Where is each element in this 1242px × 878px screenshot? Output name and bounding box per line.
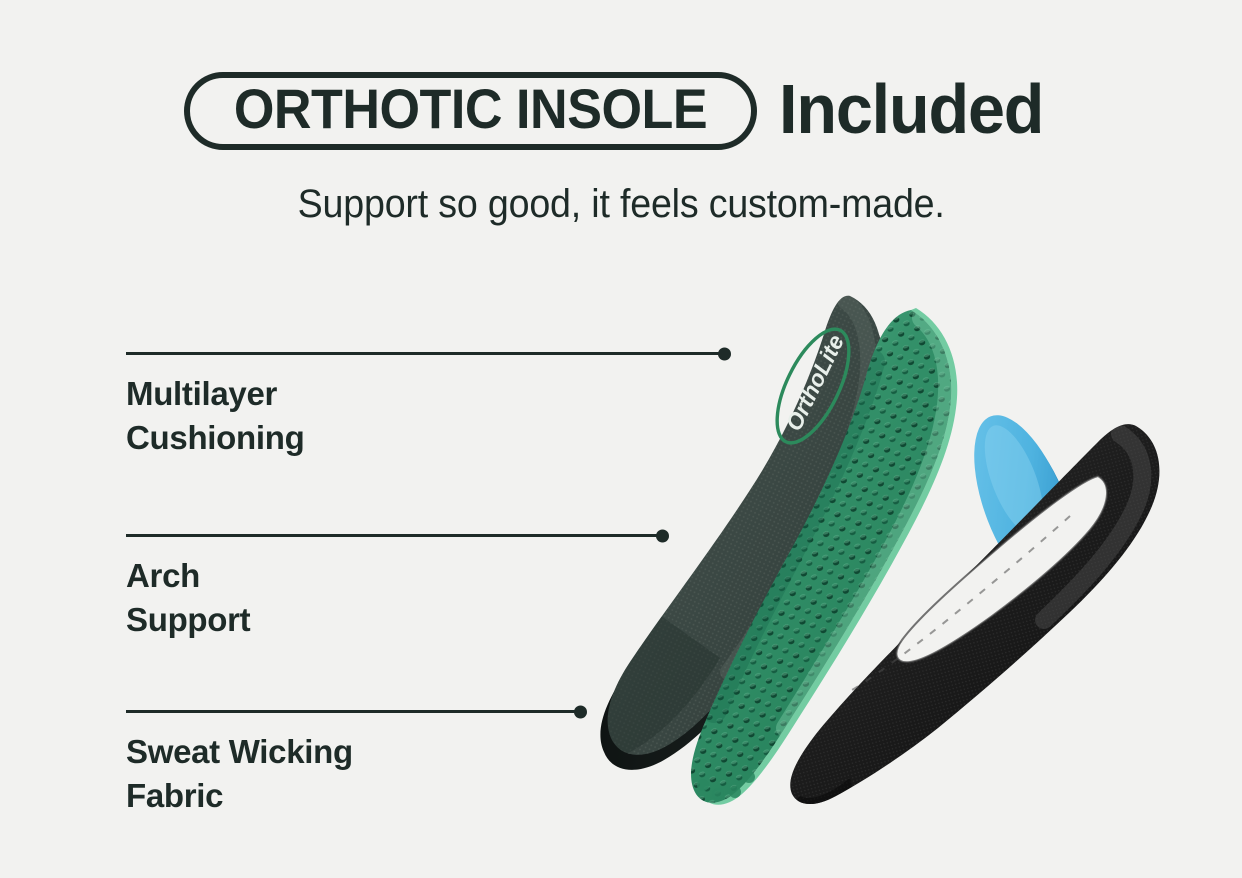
leader-line	[126, 534, 664, 537]
orthotic-insole-badge: ORTHOTIC INSOLE	[184, 72, 757, 150]
feature-label: Arch Support	[126, 554, 664, 642]
feature-sweat-wicking-fabric: Sweat Wicking Fabric	[126, 710, 582, 818]
badge-label: ORTHOTIC INSOLE	[234, 81, 707, 137]
leader-dot-icon	[574, 705, 587, 718]
product-image: OrthoLite	[600, 258, 1200, 838]
orthotic-insole-feature-panel: ORTHOTIC INSOLE Included Support so good…	[0, 0, 1242, 878]
headline: ORTHOTIC INSOLE Included	[0, 72, 1242, 150]
subtitle-text: Support so good, it feels custom-made.	[297, 182, 944, 227]
subtitle: Support so good, it feels custom-made.	[0, 182, 1242, 227]
headline-suffix: Included	[779, 74, 1043, 144]
feature-arch-support: Arch Support	[126, 534, 664, 642]
feature-label: Sweat Wicking Fabric	[126, 730, 582, 818]
leader-line	[126, 710, 582, 713]
